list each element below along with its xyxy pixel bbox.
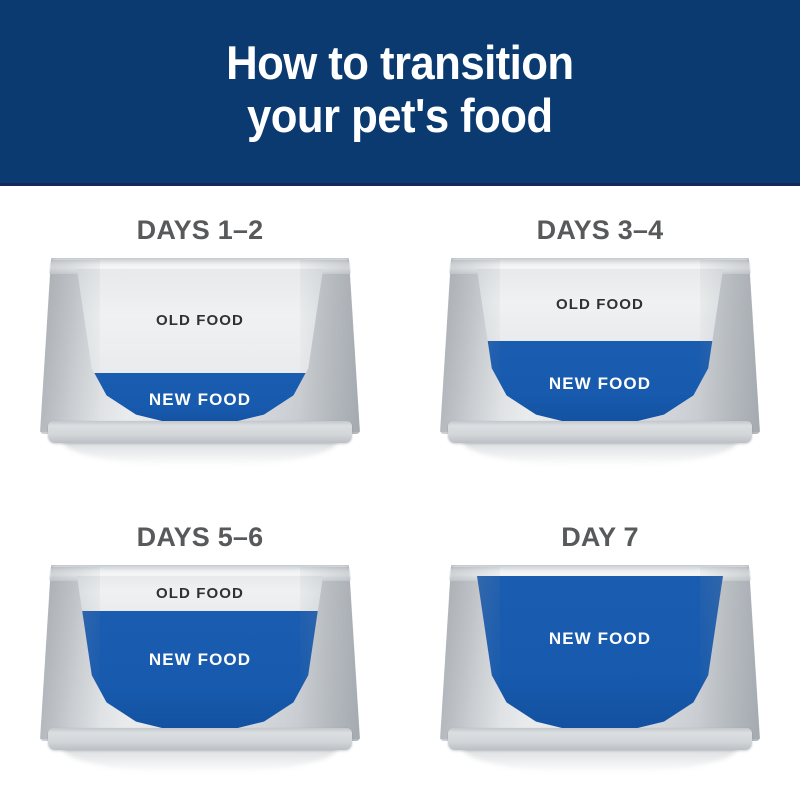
transition-step-1: DAYS 1–2 OLD FOOD NEW FOOD (0, 186, 400, 493)
bowl-base (48, 421, 352, 443)
bowl-base (448, 728, 752, 750)
bowl-base (448, 421, 752, 443)
new-food-label-4: NEW FOOD (477, 629, 723, 649)
step-title-2: DAYS 3–4 (537, 215, 664, 249)
food-bowl-3: OLD FOOD NEW FOOD (40, 565, 360, 770)
pet-food-transition-infographic: How to transition your pet's food DAYS 1… (0, 0, 800, 800)
old-food-portion-1: OLD FOOD (77, 269, 323, 373)
food-bowl-1: OLD FOOD NEW FOOD (40, 258, 360, 463)
bowl-shadow (62, 747, 338, 773)
bowl-shadow (462, 440, 738, 466)
transition-step-3: DAYS 5–6 OLD FOOD NEW FOOD (0, 493, 400, 800)
page-title: How to transition your pet's food (226, 37, 573, 146)
old-food-label-1: OLD FOOD (77, 312, 323, 329)
food-bowl-4: OLD FOOD NEW FOOD (440, 565, 760, 770)
bowl-base (48, 728, 352, 750)
step-title-1: DAYS 1–2 (137, 215, 264, 249)
bowl-shadow (462, 747, 738, 773)
transition-step-2: DAYS 3–4 OLD FOOD NEW FOOD (400, 186, 800, 493)
bowl-shadow (62, 440, 338, 466)
step-title-3: DAYS 5–6 (137, 522, 264, 556)
header-banner: How to transition your pet's food (0, 0, 800, 186)
new-food-label-3: NEW FOOD (77, 650, 323, 670)
old-food-portion-2: OLD FOOD (477, 269, 723, 341)
new-food-label-2: NEW FOOD (477, 374, 723, 394)
old-food-portion-3: OLD FOOD (77, 576, 323, 611)
transition-step-4: DAY 7 OLD FOOD NEW FOOD (400, 493, 800, 800)
transition-steps-grid: DAYS 1–2 OLD FOOD NEW FOOD (0, 186, 800, 800)
old-food-label-3: OLD FOOD (77, 585, 323, 602)
step-title-4: DAY 7 (561, 522, 639, 556)
old-food-label-2: OLD FOOD (477, 296, 723, 313)
food-bowl-2: OLD FOOD NEW FOOD (440, 258, 760, 463)
